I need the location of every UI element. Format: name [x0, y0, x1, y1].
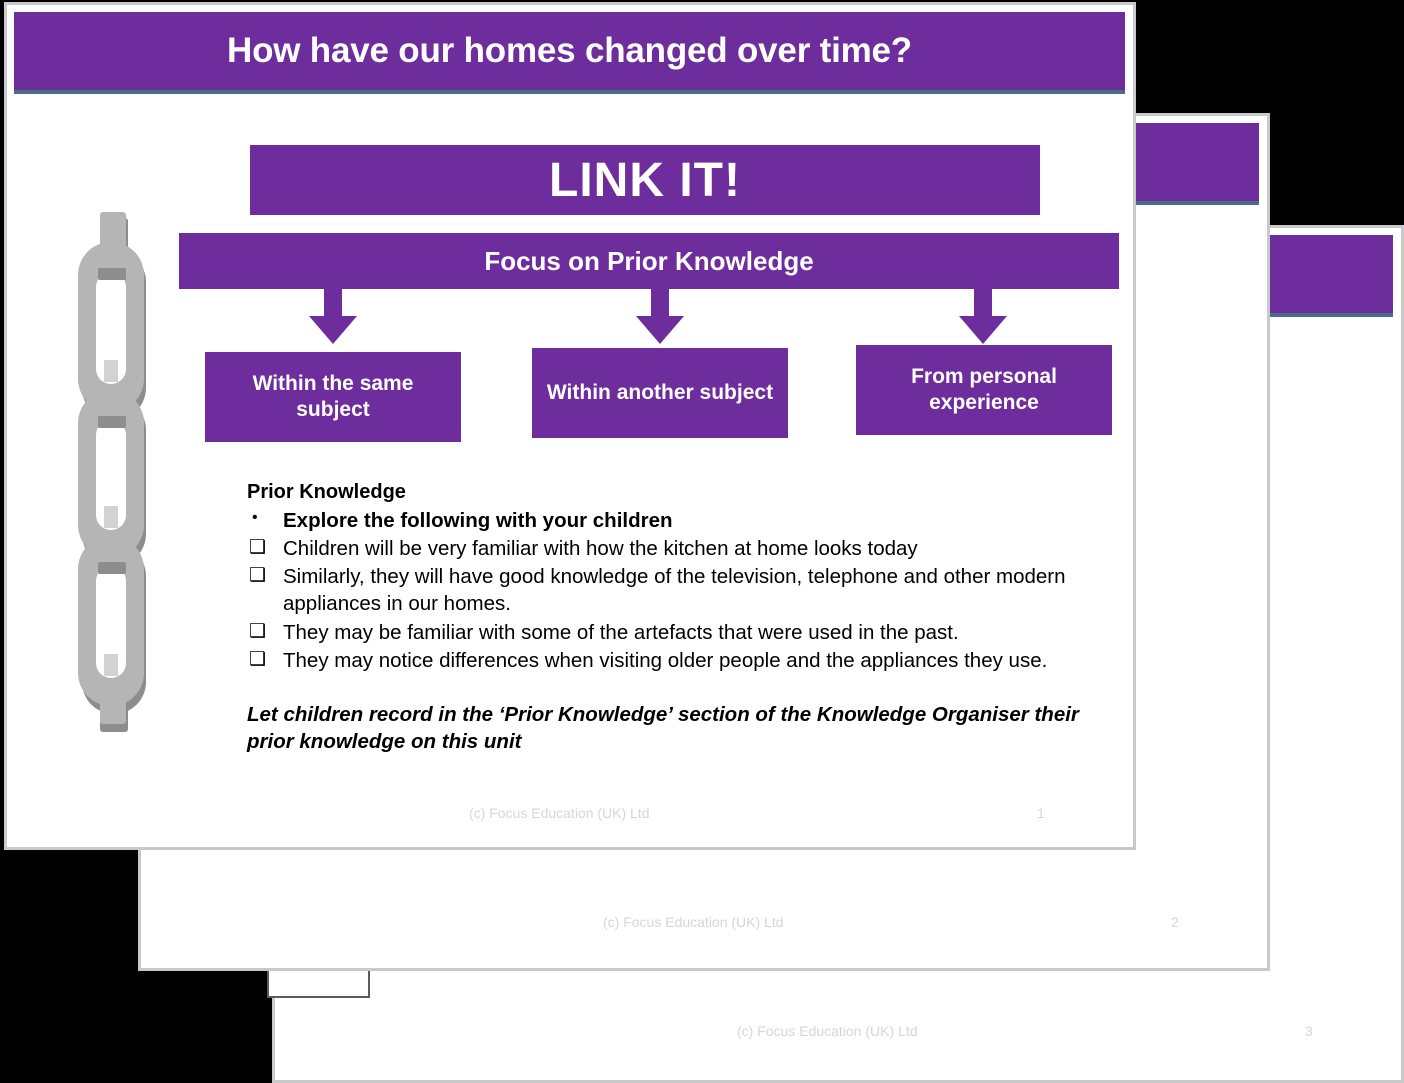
subject-box-from-personal-experience: From personal experience [856, 345, 1112, 435]
down-arrow-icon-1 [309, 289, 357, 344]
subject-box-within-same-subject: Within the same subject [205, 352, 461, 442]
bullet-square-icon: ❑ [247, 535, 283, 560]
list-item: ❑ They may be familiar with some of the … [247, 619, 1107, 646]
prior-knowledge-body: Prior Knowledge • Explore the following … [247, 479, 1107, 756]
prior-knowledge-note: Let children record in the ‘Prior Knowle… [247, 701, 1107, 756]
list-item: ❑ Similarly, they will have good knowled… [247, 563, 1107, 618]
list-item-text: Explore the following with your children [283, 507, 1107, 534]
bullet-square-icon: ❑ [247, 647, 283, 672]
list-item-text: Similarly, they will have good knowledge… [283, 563, 1107, 618]
list-item-text: Children will be very familiar with how … [283, 535, 1107, 562]
prior-knowledge-heading: Prior Knowledge [247, 479, 1107, 506]
down-arrow-icon-3 [959, 289, 1007, 344]
slide2-footer-page: 2 [1171, 914, 1179, 930]
focus-prior-knowledge-bar: Focus on Prior Knowledge [179, 233, 1119, 289]
link-it-heading: LINK IT! [250, 145, 1040, 215]
list-item-text: They may notice differences when visitin… [283, 647, 1107, 674]
bullet-square-icon: ❑ [247, 563, 283, 588]
slide1-footer-copyright: (c) Focus Education (UK) Ltd [469, 805, 650, 821]
chain-link-icon [52, 210, 177, 740]
title-underline [14, 90, 1125, 94]
down-arrow-icon-2 [636, 289, 684, 344]
slide3-footer-page: 3 [1305, 1023, 1313, 1039]
slide-card-1[interactable]: How have our homes changed over time? [4, 2, 1136, 850]
slide1-footer-page: 1 [1037, 805, 1045, 821]
list-item: ❑ They may notice differences when visit… [247, 647, 1107, 674]
slide3-footer-copyright: (c) Focus Education (UK) Ltd [737, 1023, 918, 1039]
slide2-footer-copyright: (c) Focus Education (UK) Ltd [603, 914, 784, 930]
subject-box-within-another-subject: Within another subject [532, 348, 788, 438]
bullet-square-icon: ❑ [247, 619, 283, 644]
list-item: • Explore the following with your childr… [247, 507, 1107, 534]
bullet-dot-icon: • [247, 507, 283, 528]
page-title: How have our homes changed over time? [14, 12, 1125, 90]
list-item-text: They may be familiar with some of the ar… [283, 619, 1107, 646]
list-item: ❑ Children will be very familiar with ho… [247, 535, 1107, 562]
